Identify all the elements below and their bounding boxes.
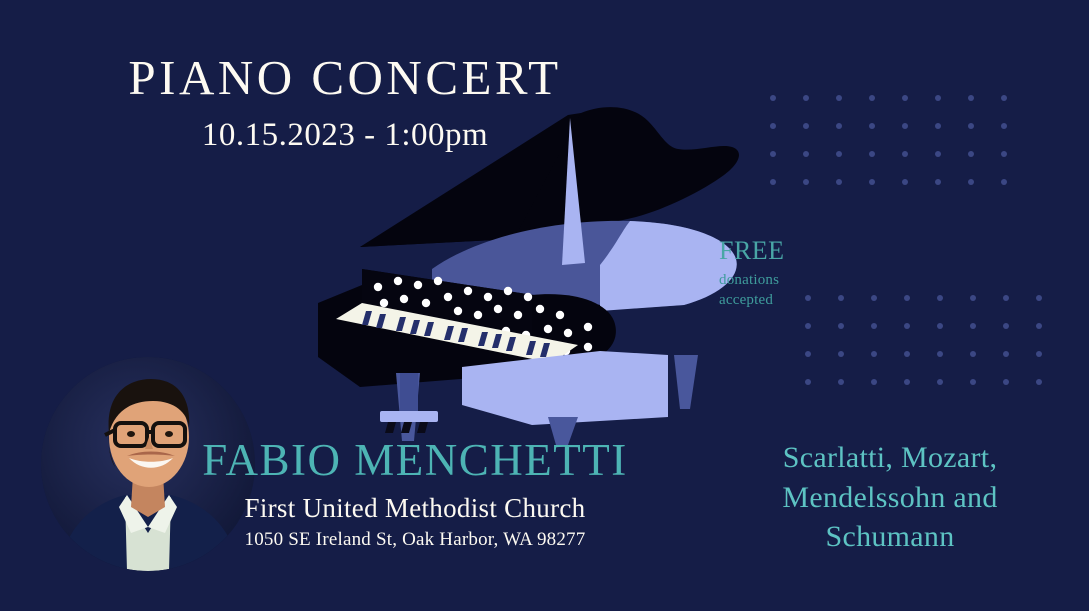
dot (1001, 123, 1034, 151)
performer-block: FABIO MENCHETTI First United Methodist C… (175, 437, 655, 551)
dot (935, 123, 968, 151)
dot (871, 323, 904, 351)
dot (904, 323, 937, 351)
composer-line: Mendelssohn and (735, 478, 1045, 518)
dot (935, 179, 968, 207)
dot (836, 123, 869, 151)
composer-line: Schumann (735, 517, 1045, 557)
dot (902, 151, 935, 179)
dot (970, 379, 1003, 407)
dot-grid-top (770, 95, 1034, 207)
dot (970, 323, 1003, 351)
dot (902, 179, 935, 207)
grand-piano-illustration (300, 105, 760, 445)
dot (838, 379, 871, 407)
dot (1003, 351, 1036, 379)
dot (838, 351, 871, 379)
dot (1003, 379, 1036, 407)
dot (869, 151, 902, 179)
dot (902, 95, 935, 123)
dot (836, 179, 869, 207)
dot (935, 95, 968, 123)
dot (836, 151, 869, 179)
performer-name: FABIO MENCHETTI (175, 437, 655, 484)
dot (968, 151, 1001, 179)
dot (869, 179, 902, 207)
pedal-lyre-base (380, 411, 438, 422)
dot (902, 123, 935, 151)
piano-leg-right (674, 355, 698, 409)
dot (904, 379, 937, 407)
dot (970, 351, 1003, 379)
dot (803, 123, 836, 151)
dot (803, 151, 836, 179)
dot (937, 295, 970, 323)
dot (871, 295, 904, 323)
dot (937, 379, 970, 407)
dot (935, 151, 968, 179)
free-label: FREE (719, 238, 785, 264)
accepted-line: accepted (719, 290, 785, 310)
dot (1036, 379, 1069, 407)
portrait-eye-right (165, 431, 173, 437)
dot (904, 295, 937, 323)
dot (904, 351, 937, 379)
piano-pedals (385, 422, 428, 433)
venue-address: 1050 SE Ireland St, Oak Harbor, WA 98277 (175, 529, 655, 551)
dot (1036, 351, 1069, 379)
dot (970, 295, 1003, 323)
dot (1001, 95, 1034, 123)
dot (770, 123, 803, 151)
composer-line: Scarlatti, Mozart, (735, 438, 1045, 478)
dot (803, 179, 836, 207)
dot (1003, 323, 1036, 351)
dot (937, 323, 970, 351)
venue-name: First United Methodist Church (175, 493, 655, 524)
dot (1036, 323, 1069, 351)
dot (805, 351, 838, 379)
dot (1001, 151, 1034, 179)
dot (968, 95, 1001, 123)
dot (805, 379, 838, 407)
dot (770, 179, 803, 207)
dot (805, 295, 838, 323)
dot (968, 123, 1001, 151)
dot (1001, 179, 1034, 207)
dot (836, 95, 869, 123)
event-datetime: 10.15.2023 - 1:00pm (0, 117, 690, 154)
dot (968, 179, 1001, 207)
dot (871, 379, 904, 407)
dot (871, 351, 904, 379)
donations-line: donations (719, 270, 785, 290)
dot (1036, 295, 1069, 323)
poster-canvas: PIANO CONCERT 10.15.2023 - 1:00pm (0, 0, 1089, 611)
dot (838, 295, 871, 323)
dot (805, 323, 838, 351)
dot (869, 123, 902, 151)
headline-block: PIANO CONCERT 10.15.2023 - 1:00pm (0, 52, 690, 154)
dot-grid-bottom (805, 295, 1069, 407)
dot (770, 95, 803, 123)
pricing-block: FREE donations accepted (719, 238, 785, 311)
pedal-lyre-post (400, 373, 418, 417)
dot (869, 95, 902, 123)
dot (838, 323, 871, 351)
program-composers: Scarlatti, Mozart, Mendelssohn and Schum… (735, 438, 1045, 557)
portrait-eye-left (127, 431, 135, 437)
dot (803, 95, 836, 123)
dot (1003, 295, 1036, 323)
dot (770, 151, 803, 179)
dot (937, 351, 970, 379)
page-title: PIANO CONCERT (0, 52, 690, 103)
